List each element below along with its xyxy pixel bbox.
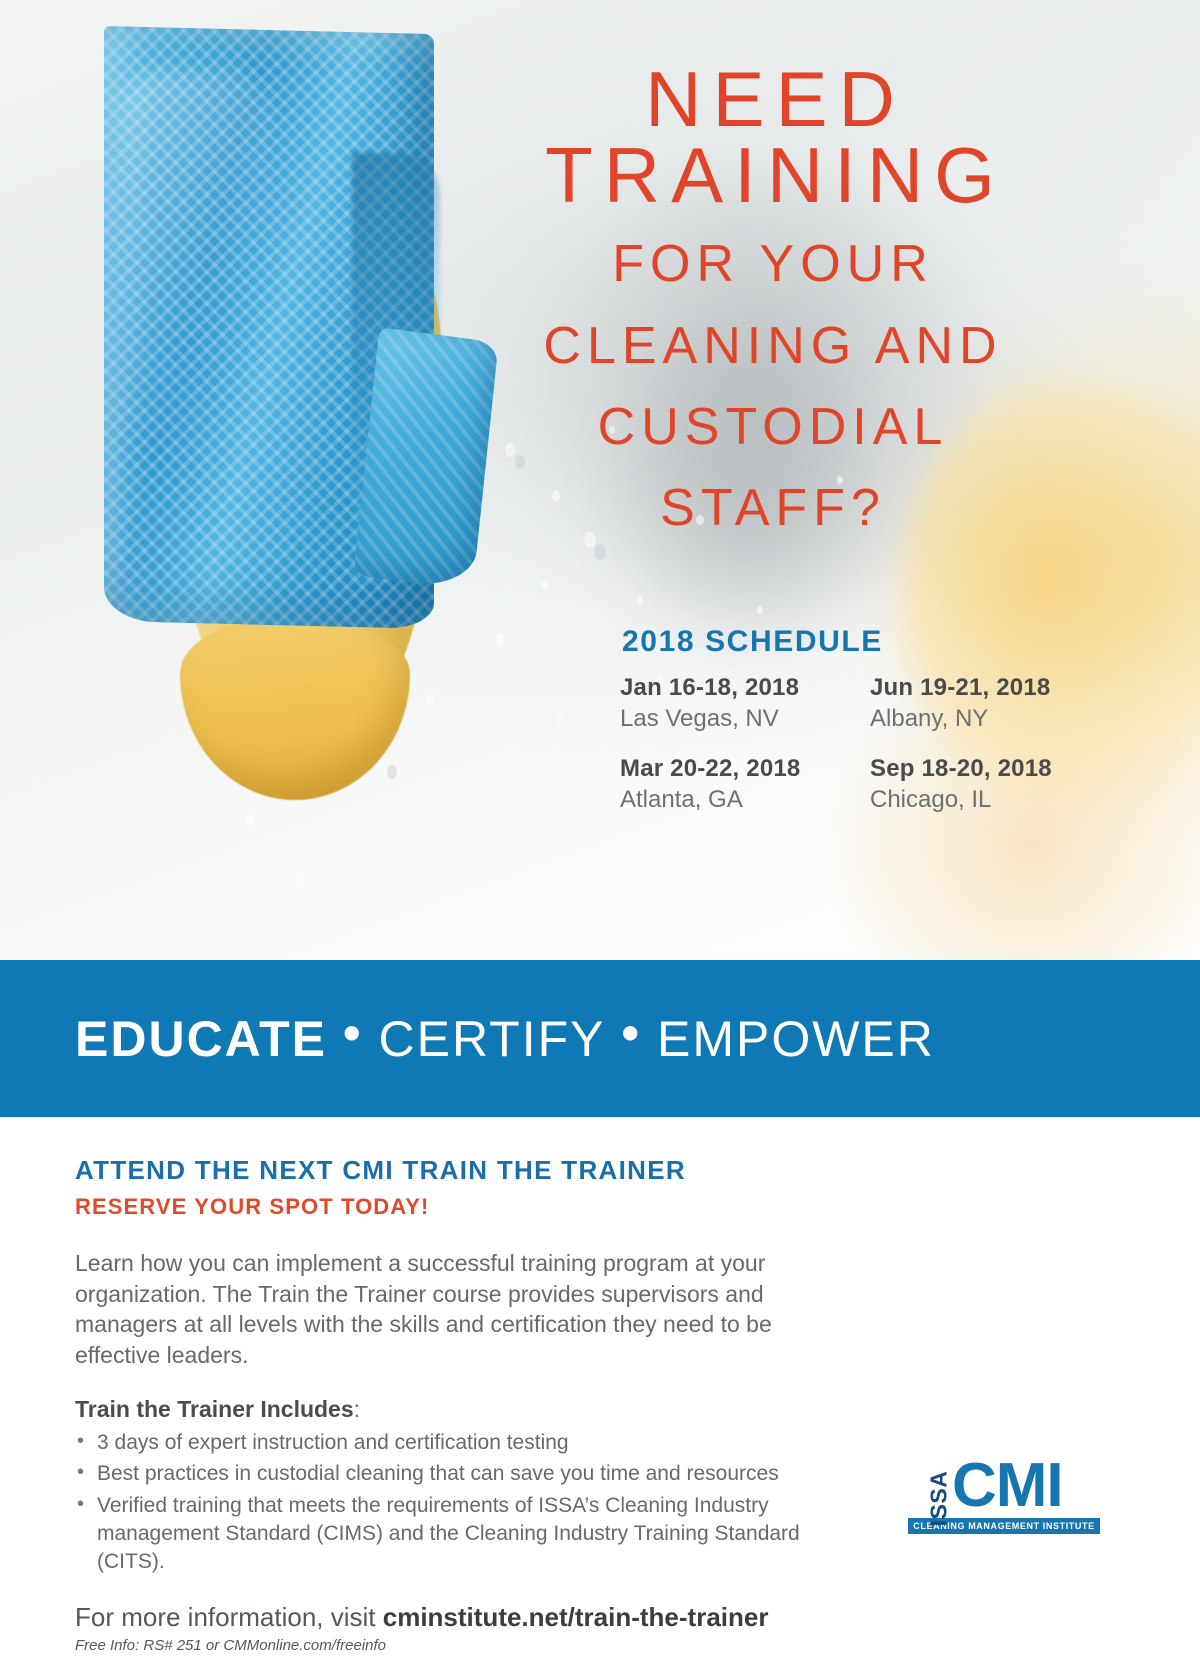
blue-microfiber-cloth <box>104 26 434 629</box>
schedule-block: 2018 SCHEDULE Jan 16-18, 2018 Las Vegas,… <box>620 625 1120 816</box>
schedule-event: Jan 16-18, 2018 Las Vegas, NV <box>620 673 870 734</box>
tagline-separator-2: • <box>621 1004 641 1062</box>
fine-print: Free Info: RS# 251 or CMMonline.com/free… <box>75 1637 1135 1654</box>
logo-issa-text: ISSA <box>926 1468 953 1530</box>
logo-wordmark-row: ISSA CMI <box>908 1452 1100 1514</box>
schedule-event-city: Las Vegas, NV <box>620 704 870 735</box>
includes-label: Train the Trainer Includes <box>75 1396 354 1422</box>
schedule-event-date: Jun 19-21, 2018 <box>870 673 1120 704</box>
schedule-event: Sep 18-20, 2018 Chicago, IL <box>870 754 1120 815</box>
schedule-event-date: Jan 16-18, 2018 <box>620 673 870 704</box>
more-information-line: For more information, visit cminstitute.… <box>75 1602 1135 1633</box>
body-paragraph: Learn how you can implement a successful… <box>75 1248 835 1370</box>
website-url[interactable]: cminstitute.net/train-the-trainer <box>383 1602 769 1632</box>
schedule-event: Jun 19-21, 2018 Albany, NY <box>870 673 1120 734</box>
headline-line-1: NEED <box>470 62 1070 138</box>
schedule-event-date: Sep 18-20, 2018 <box>870 754 1120 785</box>
tagline-banner: EDUCATE•CERTIFY•EMPOWER <box>0 960 1200 1117</box>
list-item: 3 days of expert instruction and certifi… <box>75 1429 865 1457</box>
schedule-event-city: Chicago, IL <box>870 785 1120 816</box>
issa-cmi-logo: ISSA CMI CLEANING MANAGEMENT INSTITUTE <box>908 1452 1100 1544</box>
headline-line-2: TRAINING <box>470 138 1070 214</box>
schedule-event: Mar 20-22, 2018 Atlanta, GA <box>620 754 870 815</box>
schedule-event-city: Atlanta, GA <box>620 785 870 816</box>
schedule-event-city: Albany, NY <box>870 704 1120 735</box>
section-heading: ATTEND THE NEXT CMI TRAIN THE TRAINER <box>75 1155 1135 1186</box>
section-subheading: RESERVE YOUR SPOT TODAY! <box>75 1194 1135 1220</box>
headline-line-5: CUSTODIAL <box>470 398 1070 457</box>
includes-list: 3 days of expert instruction and certifi… <box>75 1429 865 1576</box>
schedule-title: 2018 SCHEDULE <box>622 625 1120 659</box>
cloth-highlight <box>122 66 272 450</box>
more-information-prefix: For more information, visit <box>75 1602 383 1632</box>
headline-line-3: FOR YOUR <box>470 235 1070 294</box>
includes-label-row: Train the Trainer Includes: <box>75 1396 1135 1423</box>
logo-cmi-text: CMI <box>952 1457 1063 1514</box>
schedule-event-date: Mar 20-22, 2018 <box>620 754 870 785</box>
advertisement-poster: NEED TRAINING FOR YOUR CLEANING AND CUST… <box>0 0 1200 1657</box>
tagline-separator-1: • <box>343 1004 363 1062</box>
body-content: ATTEND THE NEXT CMI TRAIN THE TRAINER RE… <box>75 1155 1135 1654</box>
list-item: Best practices in custodial cleaning tha… <box>75 1460 865 1488</box>
tagline-word-certify: CERTIFY <box>378 1011 605 1067</box>
headline: NEED TRAINING FOR YOUR CLEANING AND CUST… <box>470 62 1070 538</box>
schedule-grid: Jan 16-18, 2018 Las Vegas, NV Jun 19-21,… <box>620 673 1120 816</box>
includes-colon: : <box>354 1396 360 1422</box>
list-item: Verified training that meets the require… <box>75 1492 865 1576</box>
headline-line-6: STAFF? <box>470 479 1070 538</box>
headline-line-4: CLEANING AND <box>470 317 1070 376</box>
tagline-text: EDUCATE•CERTIFY•EMPOWER <box>0 1010 935 1068</box>
tagline-word-empower: EMPOWER <box>657 1011 935 1067</box>
tagline-word-educate: EDUCATE <box>75 1011 327 1067</box>
